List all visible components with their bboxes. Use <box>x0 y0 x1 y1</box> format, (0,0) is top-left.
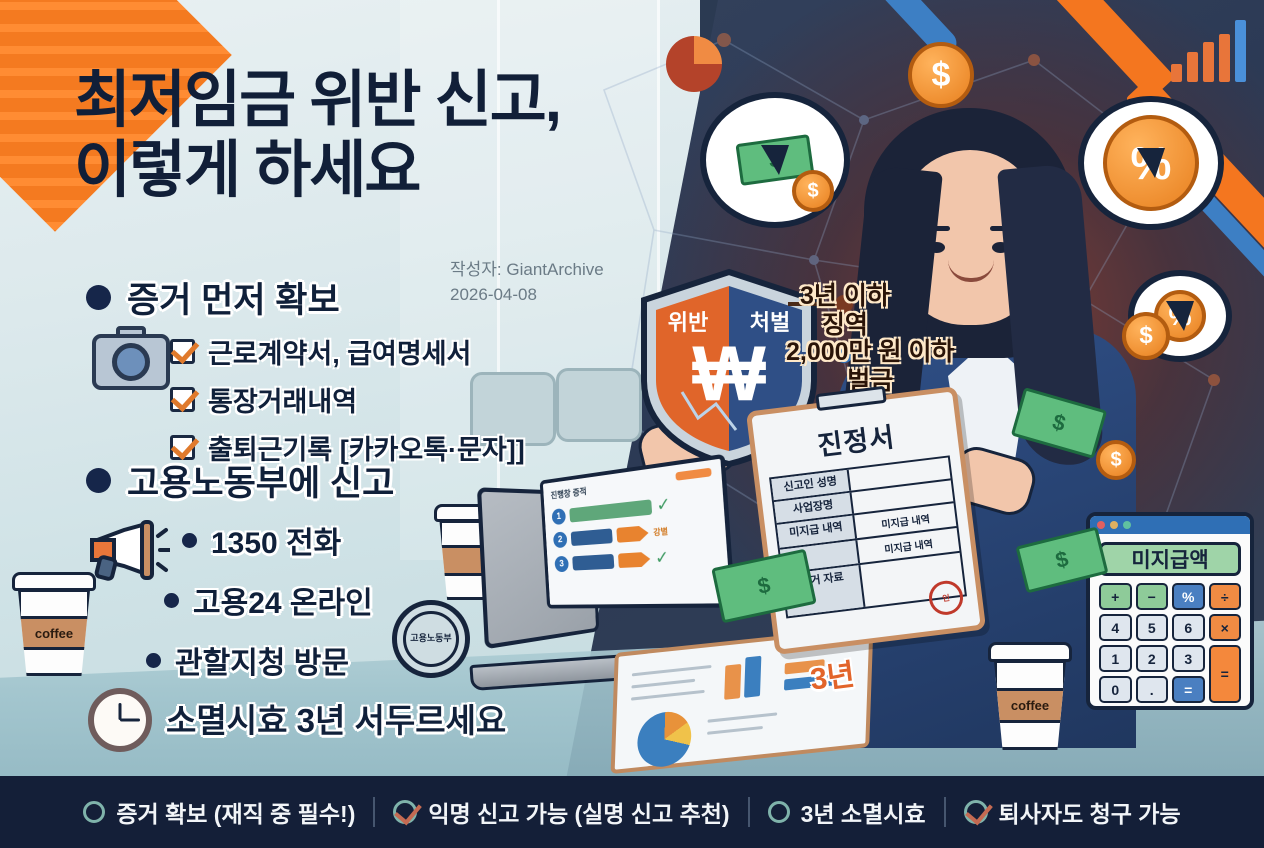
unpaid-wage-calculator: 미지급액 + − % ÷ 4 5 6 × 1 2 3 = 0 . = <box>1086 512 1254 710</box>
calc-key-0[interactable]: 0 <box>1099 676 1132 703</box>
check-circle-icon <box>964 800 988 824</box>
report-channel-list: 1350 전화 고용24 온라인 관할지청 방문 <box>182 518 373 698</box>
footer-item-label: 3년 소멸시효 <box>801 795 926 829</box>
list-item-label: 관할지청 방문 <box>175 638 349 682</box>
checkbox-checked-icon <box>170 339 195 364</box>
checklist-label: 근로계약서, 급여명세서 <box>208 332 471 371</box>
section-heading-evidence: 증거 먼저 확보 <box>86 272 340 323</box>
calc-key-decimal[interactable]: . <box>1136 676 1169 703</box>
seal-inner-label: 고용노동부 <box>403 611 459 667</box>
step-check-icon: ✓ <box>654 547 669 568</box>
report-text-line <box>631 690 705 701</box>
camera-icon <box>92 334 170 390</box>
section-2-label: 고용노동부에 신고 <box>127 455 394 506</box>
cup-sleeve-label: coffee <box>19 616 89 650</box>
calc-key-1[interactable]: 1 <box>1099 645 1132 672</box>
bullet-dot-small-icon <box>146 653 161 668</box>
byline: 작성자: GiantArchive 2026-04-08 <box>450 258 604 307</box>
dollar-coin-top: $ <box>908 42 974 108</box>
window-dot-yellow <box>1110 521 1118 529</box>
section-1-label: 증거 먼저 확보 <box>127 272 340 323</box>
money-bubble: $ <box>700 92 850 228</box>
step-bar-blue <box>571 528 613 546</box>
footer-item-label: 퇴사자도 청구 가능 <box>999 795 1181 829</box>
calculator-titlebar <box>1090 516 1250 534</box>
footer-item-label: 증거 확보 (재직 중 필수!) <box>116 795 355 829</box>
list-item: 1350 전화 <box>182 518 373 562</box>
camera-viewfinder-icon <box>116 326 146 338</box>
page-title: 최저임금 위반 신고, 이렇게 하세요 <box>74 66 634 206</box>
bullet-dot-small-icon <box>164 593 179 608</box>
calculator-display: 미지급액 <box>1099 542 1241 576</box>
footer-item-label: 익명 신고 가능 (실명 신고 추천) <box>428 795 729 829</box>
step-check-icon: ✓ <box>656 494 672 516</box>
bar-chart-decoration <box>1171 30 1246 82</box>
report-text-line <box>708 712 778 722</box>
footer-item-2[interactable]: 익명 신고 가능 (실명 신고 추천) <box>375 795 747 829</box>
cup-sleeve-label: coffee <box>995 688 1065 723</box>
penalty-callout-prison: 3년 이하 징역 <box>800 282 890 339</box>
percent-bubble-large: % <box>1078 96 1224 230</box>
deadline-text: 소멸시효 3년 서두르세요 <box>166 694 506 742</box>
report-text-line <box>707 726 763 735</box>
report-pie-chart <box>637 709 693 769</box>
percent-coin-large: % <box>1103 115 1199 211</box>
footer-item-3[interactable]: 3년 소멸시효 <box>750 795 944 829</box>
calculator-keypad: + − % ÷ 4 5 6 × 1 2 3 = 0 . = <box>1090 583 1250 710</box>
report-text-line <box>631 679 695 689</box>
calc-key-percent[interactable]: % <box>1172 583 1205 610</box>
dollar-coin-small: $ <box>792 170 834 212</box>
step-bar-green <box>569 499 652 522</box>
checklist-label: 통장거래내역 <box>208 380 357 419</box>
calc-key-4[interactable]: 4 <box>1099 614 1132 641</box>
bullet-dot-icon <box>86 285 111 310</box>
step-note: 강별 <box>653 526 668 538</box>
calc-key-3[interactable]: 3 <box>1172 645 1205 672</box>
footer-summary-bar: 증거 확보 (재직 중 필수!) 익명 신고 가능 (실명 신고 추천) 3년 … <box>0 776 1264 848</box>
clock-icon <box>88 688 152 752</box>
laptop-header-label: 진행창 증적 <box>550 486 586 500</box>
calc-key-5[interactable]: 5 <box>1136 614 1169 641</box>
list-item-label: 고용24 온라인 <box>193 578 373 622</box>
cup-body: coffee <box>994 660 1066 750</box>
step-arrow-orange-icon <box>618 551 651 568</box>
step-number: 1 <box>552 508 567 525</box>
dollar-coin-bubble-small: $ <box>1122 312 1170 360</box>
step-number: 3 <box>554 555 569 572</box>
cup-body: coffee <box>18 589 90 676</box>
complaint-clipboard: 진정서 신고인 성명 사업장명 미지급 내역 미지급 내역 미지급 내역 증거 … <box>746 386 986 655</box>
calc-key-equals-large[interactable]: = <box>1209 645 1242 703</box>
checklist-item: 통장거래내역 <box>170 380 525 419</box>
window-dot-green <box>1123 521 1131 529</box>
checkbox-checked-icon <box>170 387 195 412</box>
dollar-coin-mid: $ <box>1096 440 1136 480</box>
step-number: 2 <box>553 531 568 548</box>
footer-item-1[interactable]: 증거 확보 (재직 중 필수!) <box>65 795 373 829</box>
step-bar-blue <box>572 553 614 570</box>
bullet-dot-icon <box>86 468 111 493</box>
bullet-dot-small-icon <box>182 533 197 548</box>
report-bar <box>724 664 741 700</box>
list-item: 고용24 온라인 <box>164 578 373 622</box>
pie-chart-icon <box>666 36 722 92</box>
statute-badge: 3년 <box>807 649 856 698</box>
calc-key-2[interactable]: 2 <box>1136 645 1169 672</box>
laptop-screen[interactable]: 진행창 증적 1 ✓ 2 강별 3 ✓ <box>540 454 736 609</box>
infographic-poster: $ $ % % $ $ 위반 처벌 ₩ 3년 이하 징역 2,000만 원 이하… <box>0 0 1264 848</box>
footer-item-4[interactable]: 퇴사자도 청구 가능 <box>946 795 1199 829</box>
step-arrow-orange-icon <box>616 525 649 543</box>
coffee-cup-left: coffee <box>12 572 96 678</box>
checklist-item: 근로계약서, 급여명세서 <box>170 332 525 371</box>
calc-key-6[interactable]: 6 <box>1172 614 1205 641</box>
laptop-step-row: 3 ✓ <box>554 544 718 573</box>
coffee-cup-right: coffee <box>988 642 1072 752</box>
report-text-line <box>632 665 712 676</box>
list-item: 관할지청 방문 <box>146 638 373 682</box>
calc-key-minus[interactable]: − <box>1136 583 1169 610</box>
megaphone-icon <box>84 520 170 582</box>
cup-lid <box>988 642 1072 662</box>
window-dot-red <box>1097 521 1105 529</box>
section-heading-report: 고용노동부에 신고 <box>86 455 394 506</box>
check-circle-icon <box>393 800 417 824</box>
progress-pill-icon <box>675 468 711 481</box>
calc-key-multiply[interactable]: × <box>1209 614 1242 641</box>
circle-outline-icon <box>83 801 105 823</box>
report-bar <box>744 656 761 698</box>
circle-outline-icon <box>768 801 790 823</box>
cup-lid <box>12 572 96 591</box>
government-seal-icon: 고용노동부 <box>392 600 470 678</box>
list-item-label: 1350 전화 <box>211 518 341 562</box>
calc-key-divide[interactable]: ÷ <box>1209 583 1242 610</box>
calc-key-equals[interactable]: = <box>1172 676 1205 703</box>
calc-key-plus[interactable]: + <box>1099 583 1132 610</box>
shield-won-symbol: ₩ <box>692 329 766 417</box>
